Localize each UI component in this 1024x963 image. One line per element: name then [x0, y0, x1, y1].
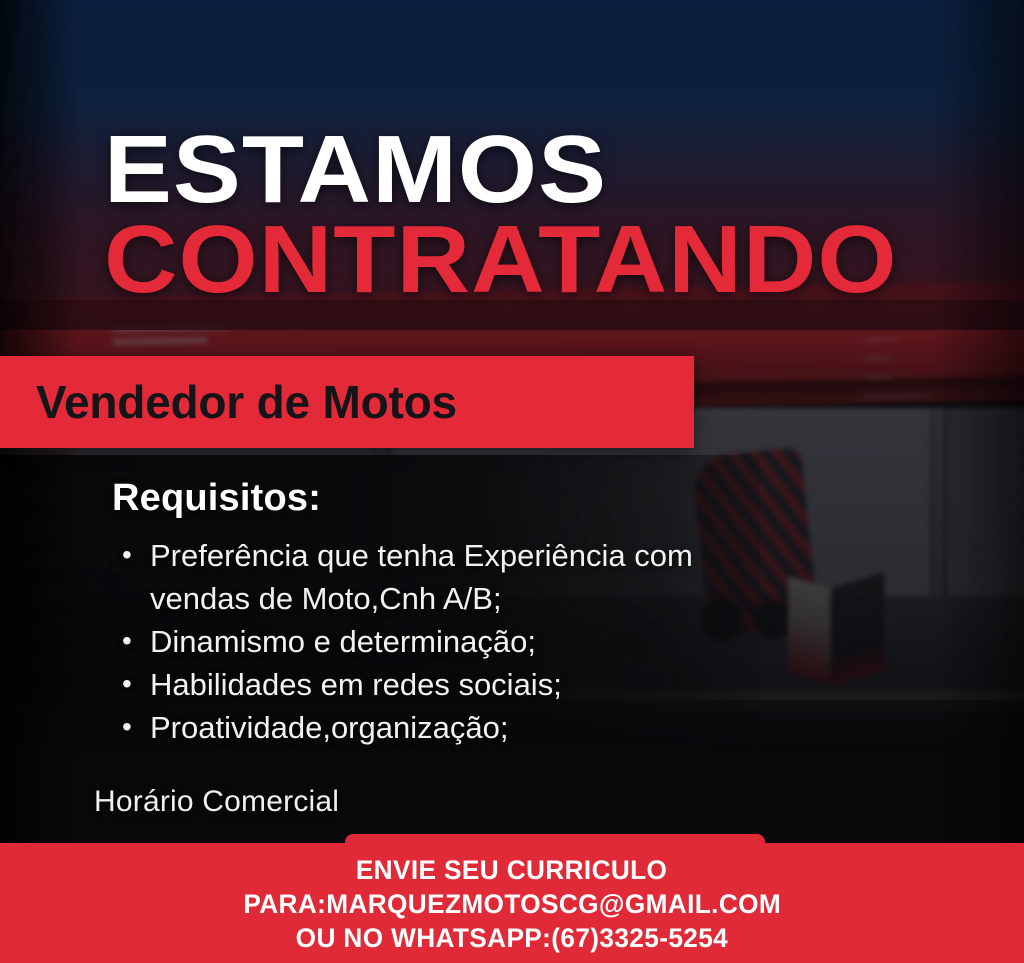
contact-line-instruction: ENVIE SEU CURRICULO: [356, 853, 668, 887]
requirements-list: Preferência que tenha Experiência com ve…: [116, 534, 790, 749]
contact-line-whatsapp[interactable]: OU NO WHATSAPP:(67)3325-5254: [296, 921, 728, 955]
requirements-heading: Requisitos:: [112, 477, 321, 520]
job-ad-poster: COMPRA VENDA TROCA FINANCIAMENTO ESTAMOS…: [0, 0, 1024, 963]
headline-block: ESTAMOS CONTRATANDO: [104, 128, 853, 303]
requirement-item: Proatividade,organização;: [150, 706, 790, 749]
contact-banner: ENVIE SEU CURRICULO PARA:MARQUEZMOTOSCG@…: [0, 843, 1024, 963]
role-title-banner: Vendedor de Motos: [0, 356, 694, 448]
role-title-text: Vendedor de Motos: [36, 375, 457, 429]
contact-line-email[interactable]: PARA:MARQUEZMOTOSCG@GMAIL.COM: [243, 887, 781, 921]
requirement-item: Dinamismo e determinação;: [150, 620, 790, 663]
headline-line-contratando: CONTRATANDO: [104, 218, 898, 302]
requirement-item: Preferência que tenha Experiência com ve…: [150, 534, 790, 620]
requirement-item: Habilidades em redes sociais;: [150, 663, 790, 706]
work-schedule-text: Horário Comercial: [94, 785, 339, 819]
headline-line-estamos: ESTAMOS: [104, 128, 898, 212]
poster-content: ESTAMOS CONTRATANDO Vendedor de Motos Re…: [0, 0, 1024, 963]
